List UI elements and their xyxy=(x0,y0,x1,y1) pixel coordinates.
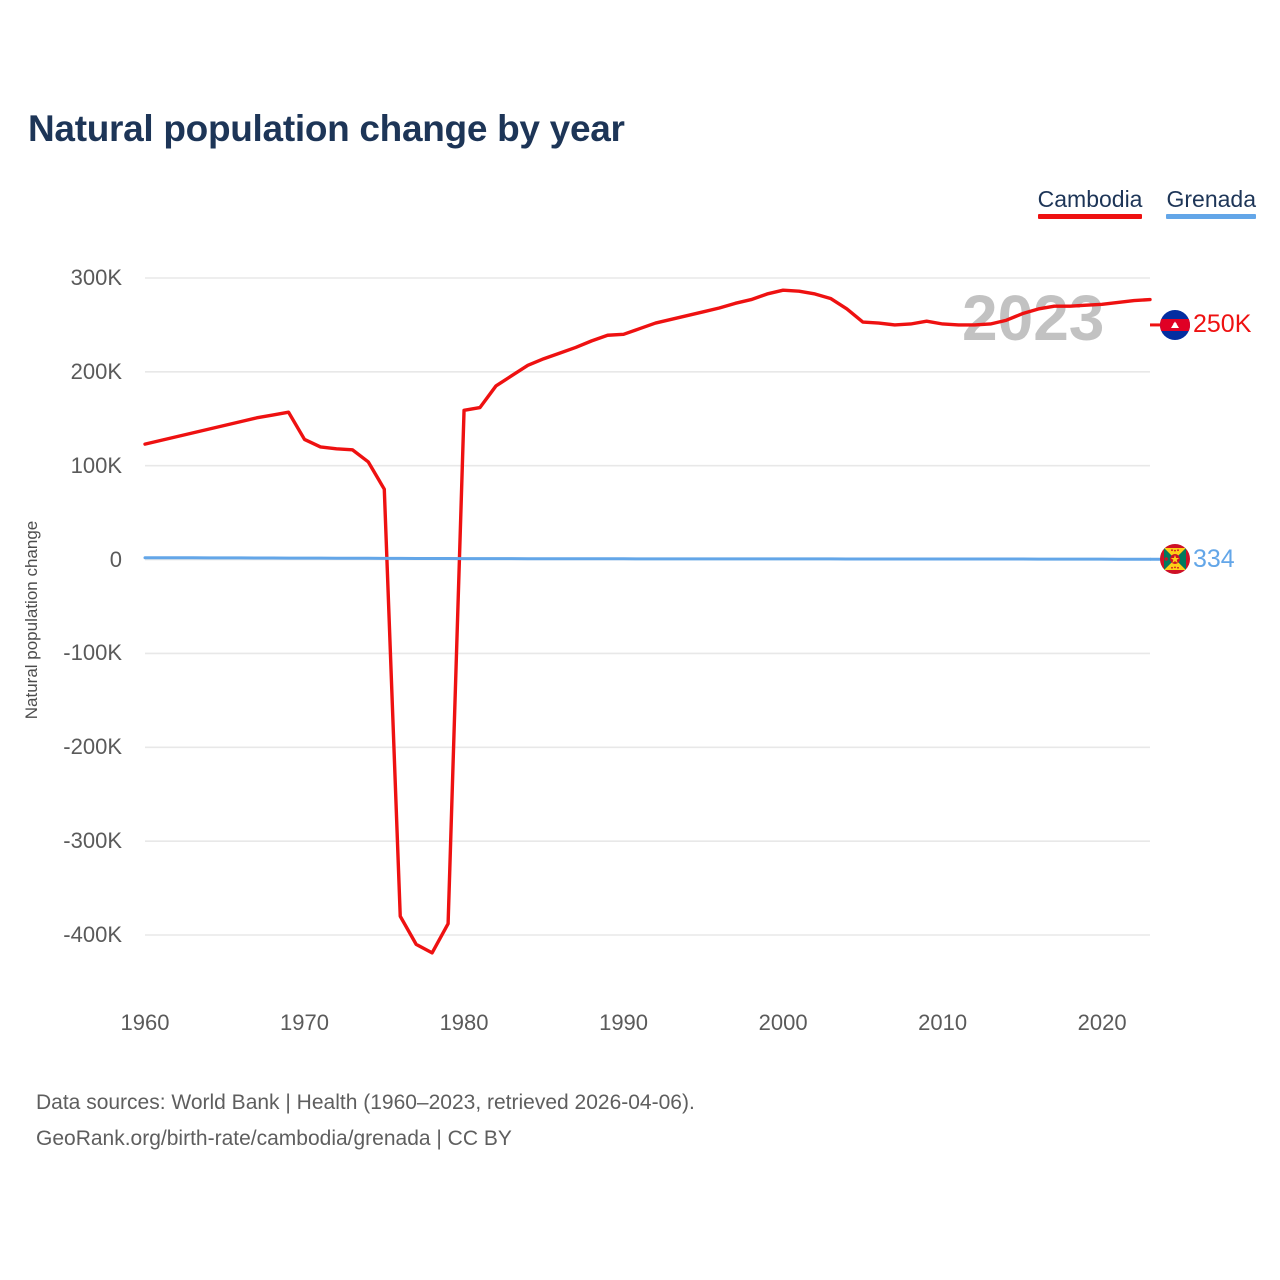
footer-line-1: Data sources: World Bank | Health (1960–… xyxy=(36,1085,695,1121)
grenada-flag-icon xyxy=(1160,544,1190,574)
chart-page: Natural population change by year Cambod… xyxy=(0,0,1280,1280)
chart-series-lines xyxy=(145,290,1164,953)
series-line-cambodia xyxy=(145,290,1150,953)
end-marker-cambodia[interactable]: 250K xyxy=(1160,310,1251,340)
chart-gridlines xyxy=(145,278,1150,935)
series-line-grenada xyxy=(145,558,1150,559)
end-value-grenada: 334 xyxy=(1193,545,1235,574)
cambodia-flag-icon xyxy=(1160,310,1190,340)
end-value-cambodia: 250K xyxy=(1193,310,1251,339)
footer-line-2: GeoRank.org/birth-rate/cambodia/grenada … xyxy=(36,1121,695,1157)
footer-attribution: Data sources: World Bank | Health (1960–… xyxy=(36,1085,695,1157)
end-marker-grenada[interactable]: 334 xyxy=(1160,544,1235,574)
